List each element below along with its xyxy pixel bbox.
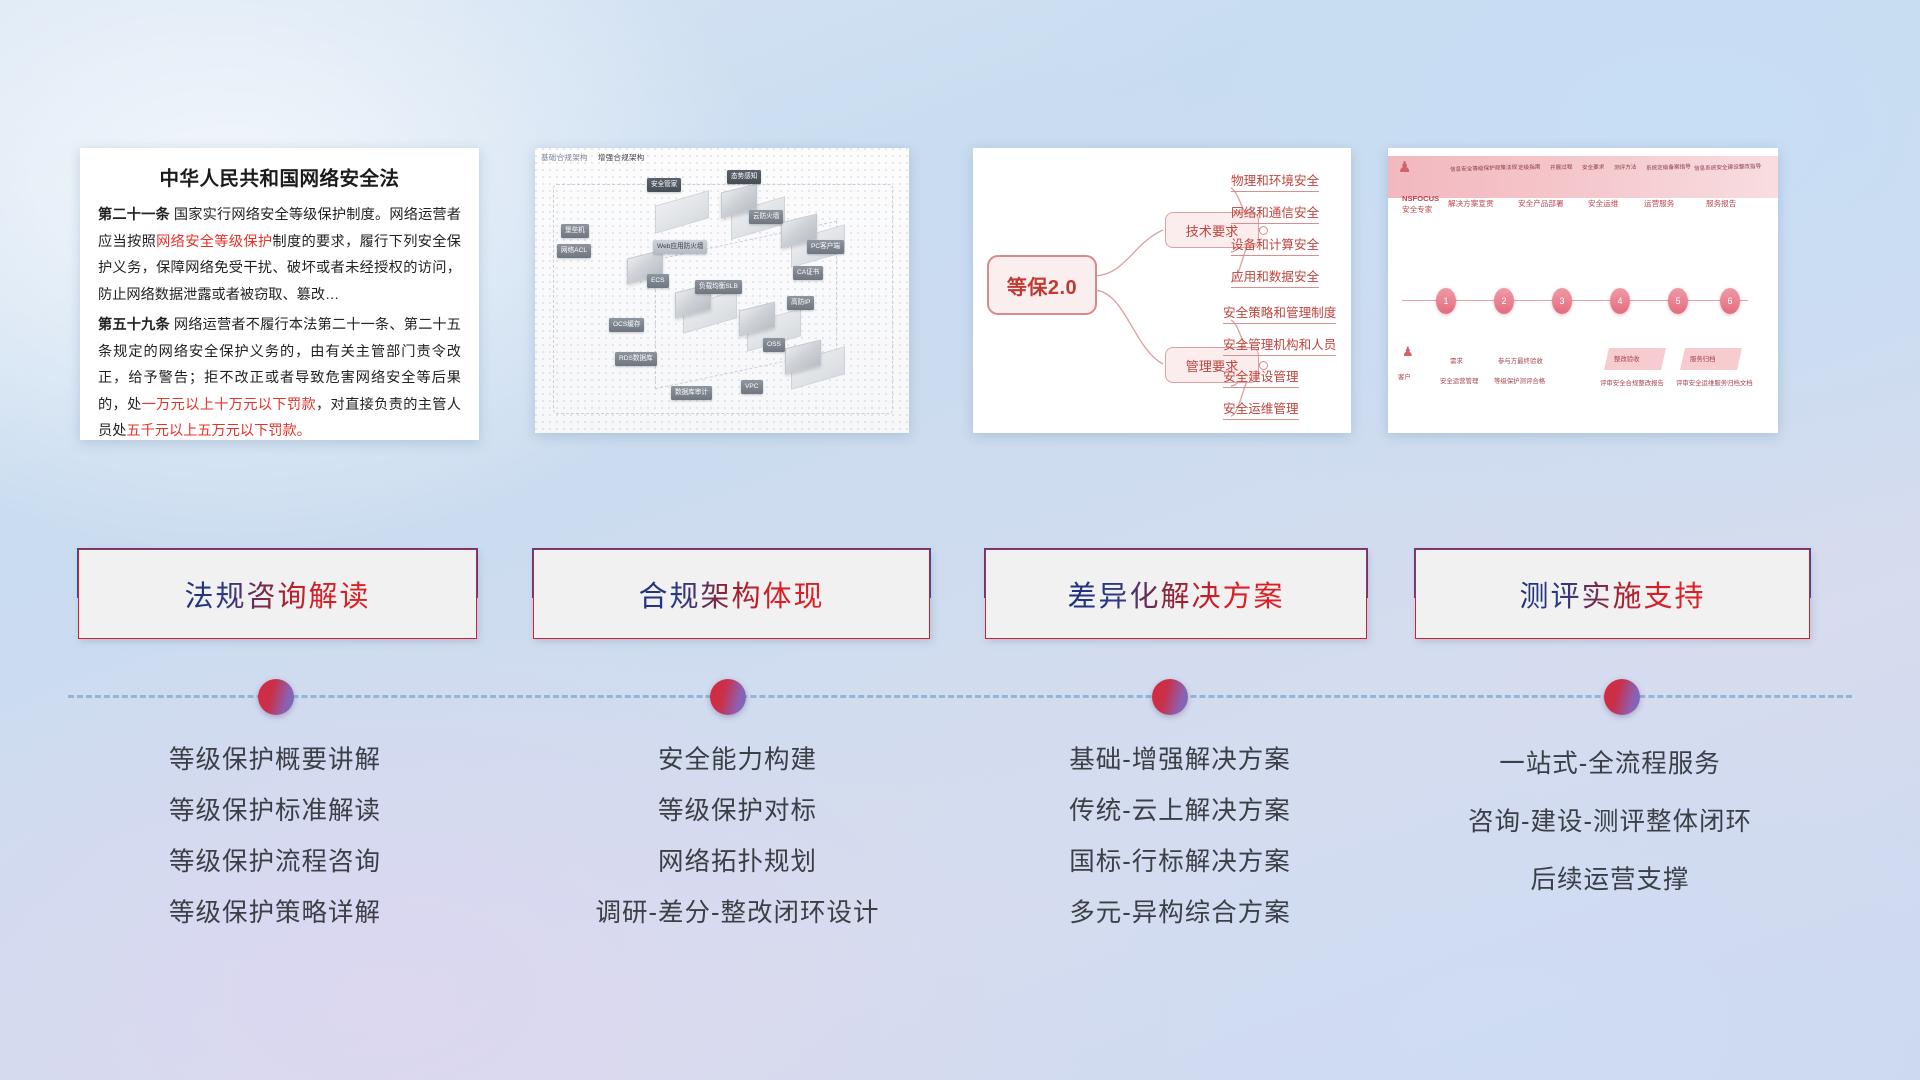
architecture-node-9[interactable]: OCS缓存 [609, 318, 644, 332]
roadmap-phase-4: 服务报告 [1706, 198, 1736, 209]
architecture-node-0[interactable]: 安全管家 [647, 178, 681, 192]
architecture-diagram: 基础合规架构增强合规架构 安全管家 态势感知 堡垒机 网络 [535, 148, 909, 433]
list-item: 传统-云上解决方案 [975, 786, 1385, 837]
customer-icon: ♟ [1402, 344, 1414, 360]
architecture-node-3[interactable]: 网络ACL [557, 244, 591, 258]
timeline-dot-4[interactable] [1604, 679, 1640, 715]
law-article-21: 第二十一条 国家实行网络安全等级保护制度。网络运营者应当按照网络安全等级保护制度… [98, 202, 461, 308]
mindmap-leaf-mgmt-1[interactable]: 安全管理机构和人员 [1223, 334, 1336, 356]
architecture-node-1[interactable]: 态势感知 [727, 170, 761, 184]
architecture-tab-enhanced: 增强合规架构 [598, 153, 645, 162]
law-document: 中华人民共和国网络安全法 第二十一条 国家实行网络安全等级保护制度。网络运营者应… [80, 148, 479, 440]
roadmap-chip-1: 定级指南 [1518, 163, 1541, 172]
section-header-4-label: 测评实施支持 [1519, 573, 1705, 615]
roadmap-diagram: ♟ NSFOCUS 安全专家 信息安全等级保护政策法规 定级指南 开展过程 安全… [1388, 148, 1778, 433]
mindmap-leaf-tech-0[interactable]: 物理和环境安全 [1231, 170, 1319, 192]
roadmap-step-2[interactable]: 3 [1552, 288, 1572, 314]
section-header-3-label: 差异化解决方案 [1067, 573, 1284, 615]
roadmap-chip-2: 开展过程 [1550, 163, 1573, 172]
slide-canvas: 中华人民共和国网络安全法 第二十一条 国家实行网络安全等级保护制度。网络运营者应… [0, 0, 1920, 1080]
image-card-row: 中华人民共和国网络安全法 第二十一条 国家实行网络安全等级保护制度。网络运营者应… [0, 148, 1920, 448]
list-item: 一站式-全流程服务 [1390, 735, 1830, 793]
roadmap-step-1[interactable]: 2 [1494, 288, 1514, 314]
mindmap: 等保2.0 技术要求 管理要求 物理和环境安全 网络和通信安全 设备和计算安全 … [973, 148, 1351, 433]
roadmap-left-tag-1: 参与方最终验收 [1498, 356, 1543, 365]
architecture-node-6[interactable]: 负载均衡SLB [695, 280, 742, 294]
section-header-4[interactable]: 测评实施支持 [1415, 549, 1810, 639]
list-item: 等级保护概要讲解 [40, 735, 510, 786]
roadmap-brand-sub: 安全专家 [1402, 204, 1432, 215]
roadmap-brand: NSFOCUS [1402, 194, 1439, 203]
roadmap-chip-3: 安全要求 [1582, 163, 1605, 172]
card-mindmap: 等保2.0 技术要求 管理要求 物理和环境安全 网络和通信安全 设备和计算安全 … [973, 148, 1351, 433]
roadmap-right-note-1: 评审安全运维服务归档文档 [1676, 378, 1753, 387]
list-item: 基础-增强解决方案 [975, 735, 1385, 786]
detail-column-4: 一站式-全流程服务 咨询-建设-测评整体闭环 后续运营支撑 [1390, 735, 1830, 909]
roadmap-right-note-0: 评审安全合规整改报告 [1600, 378, 1664, 387]
timeline-dot-3[interactable] [1152, 679, 1188, 715]
detail-column-3: 基础-增强解决方案 传统-云上解决方案 国标-行标解决方案 多元-异构综合方案 [975, 735, 1385, 939]
card-roadmap: ♟ NSFOCUS 安全专家 信息安全等级保护政策法规 定级指南 开展过程 安全… [1388, 148, 1778, 433]
mindmap-leaf-tech-1[interactable]: 网络和通信安全 [1231, 202, 1319, 224]
section-header-2-label: 合规架构体现 [638, 573, 824, 615]
law-article-21-highlight: 网络安全等级保护 [156, 234, 272, 250]
list-item: 国标-行标解决方案 [975, 837, 1385, 888]
law-article-59: 第五十九条 网络运营者不履行本法第二十一条、第二十五条规定的网络安全保护义务的，… [98, 312, 461, 440]
architecture-node-7[interactable]: CA证书 [793, 266, 823, 280]
list-item: 等级保护策略详解 [40, 888, 510, 939]
roadmap-right-tag-1: 服务归档 [1690, 354, 1716, 363]
person-icon: ♟ [1398, 158, 1411, 176]
architecture-node-15[interactable]: PC客户端 [807, 240, 844, 254]
law-article-21-label: 第二十一条 [98, 207, 170, 223]
law-article-59-highlight-b: 五千元以上五万元以下罚款。 [126, 423, 310, 439]
section-header-1[interactable]: 法规咨询解读 [78, 549, 477, 639]
architecture-node-2[interactable]: 堡垒机 [561, 224, 589, 238]
roadmap-phase-2: 安全运维 [1588, 198, 1618, 209]
mindmap-leaf-tech-3[interactable]: 应用和数据安全 [1231, 266, 1319, 288]
section-header-1-label: 法规咨询解读 [184, 573, 370, 615]
roadmap-chip-5: 系统定级备案指导 [1646, 162, 1691, 172]
roadmap-phase-0: 解决方案宣贯 [1448, 198, 1494, 209]
architecture-tabs: 基础合规架构增强合规架构 [541, 152, 655, 163]
list-item: 网络拓扑规划 [500, 837, 975, 888]
architecture-node-8[interactable]: 高防IP [787, 296, 814, 310]
roadmap-left-note-0: 安全运营管理 [1440, 376, 1478, 385]
list-item: 多元-异构综合方案 [975, 888, 1385, 939]
list-item: 等级保护标准解读 [40, 786, 510, 837]
list-item: 安全能力构建 [500, 735, 975, 786]
list-item: 调研-差分-整改闭环设计 [500, 888, 975, 939]
section-header-2[interactable]: 合规架构体现 [533, 549, 930, 639]
law-article-59-label: 第五十九条 [98, 317, 170, 333]
card-law-text: 中华人民共和国网络安全法 第二十一条 国家实行网络安全等级保护制度。网络运营者应… [80, 148, 479, 440]
detail-column-1: 等级保护概要讲解 等级保护标准解读 等级保护流程咨询 等级保护策略详解 [40, 735, 510, 939]
list-item: 等级保护流程咨询 [40, 837, 510, 888]
roadmap-right-tag-0: 整改验收 [1614, 354, 1640, 363]
mindmap-leaf-mgmt-0[interactable]: 安全策略和管理制度 [1223, 302, 1336, 324]
law-article-59-highlight-a: 一万元以上十万元以下罚款 [142, 397, 316, 413]
architecture-node-11[interactable]: OSS [763, 338, 785, 352]
list-item: 等级保护对标 [500, 786, 975, 837]
architecture-node-13[interactable]: 数据库审计 [671, 386, 712, 400]
architecture-node-12[interactable]: VPC [741, 380, 763, 394]
roadmap-step-4[interactable]: 5 [1668, 288, 1688, 314]
detail-column-2: 安全能力构建 等级保护对标 网络拓扑规划 调研-差分-整改闭环设计 [500, 735, 975, 939]
timeline-dot-2[interactable] [710, 679, 746, 715]
mindmap-leaf-mgmt-2[interactable]: 安全建设管理 [1223, 366, 1299, 388]
architecture-tab-basic: 基础合规架构 [541, 153, 588, 162]
roadmap-left-note-1: 等级保护测评合格 [1494, 376, 1545, 385]
roadmap-phase-1: 安全产品部署 [1518, 198, 1564, 209]
architecture-node-14[interactable]: 云防火墙 [749, 210, 783, 224]
roadmap-phase-3: 运营服务 [1644, 198, 1674, 209]
law-title: 中华人民共和国网络安全法 [98, 162, 461, 191]
detail-list-row: 等级保护概要讲解 等级保护标准解读 等级保护流程咨询 等级保护策略详解 安全能力… [0, 735, 1920, 985]
list-item: 后续运营支撑 [1390, 851, 1830, 909]
roadmap-step-5[interactable]: 6 [1720, 288, 1740, 314]
roadmap-step-3[interactable]: 4 [1610, 288, 1630, 314]
section-header-row: 法规咨询解读 合规架构体现 差异化解决方案 测评实施支持 [0, 549, 1920, 645]
mindmap-leaf-mgmt-3[interactable]: 安全运维管理 [1223, 398, 1299, 420]
architecture-node-10[interactable]: RDS数据库 [615, 352, 657, 366]
mindmap-root[interactable]: 等保2.0 [987, 255, 1097, 315]
architecture-node-4[interactable]: Web应用防火墙 [653, 240, 707, 254]
mindmap-leaf-tech-2[interactable]: 设备和计算安全 [1231, 234, 1319, 256]
section-header-3[interactable]: 差异化解决方案 [985, 549, 1367, 639]
timeline-dot-1[interactable] [258, 679, 294, 715]
list-item: 咨询-建设-测评整体闭环 [1390, 793, 1830, 851]
timeline-dashed-line [68, 695, 1852, 698]
roadmap-chip-4: 测评方法 [1614, 163, 1637, 172]
roadmap-customer-role: 客户 [1398, 372, 1411, 381]
timeline [0, 660, 1920, 720]
roadmap-step-0[interactable]: 1 [1436, 288, 1456, 314]
roadmap-left-tag-0: 需求 [1450, 356, 1463, 365]
card-architecture-diagram: 基础合规架构增强合规架构 安全管家 态势感知 堡垒机 网络 [535, 148, 909, 433]
architecture-node-5[interactable]: ECS [647, 274, 669, 288]
